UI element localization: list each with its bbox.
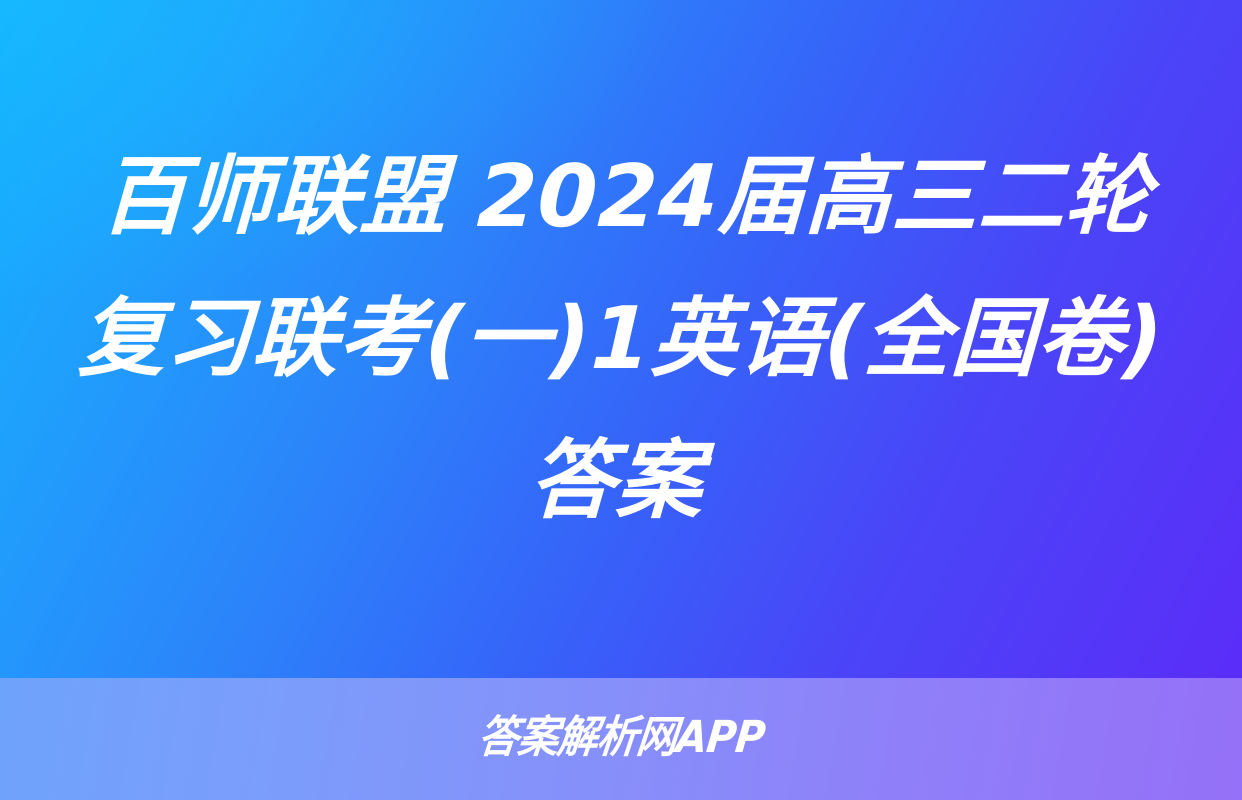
page-title: 百师联盟 2024届高三二轮复习联考(一)1英语(全国卷)答案 (64, 126, 1179, 552)
watermark-label: 答案解析网APP (476, 716, 767, 762)
watermark-band: 答案解析网APP (0, 678, 1242, 800)
title-block: 百师联盟 2024届高三二轮复习联考(一)1英语(全国卷)答案 (0, 0, 1242, 678)
answer-poster-card: 百师联盟 2024届高三二轮复习联考(一)1英语(全国卷)答案 答案解析网APP (0, 0, 1242, 800)
